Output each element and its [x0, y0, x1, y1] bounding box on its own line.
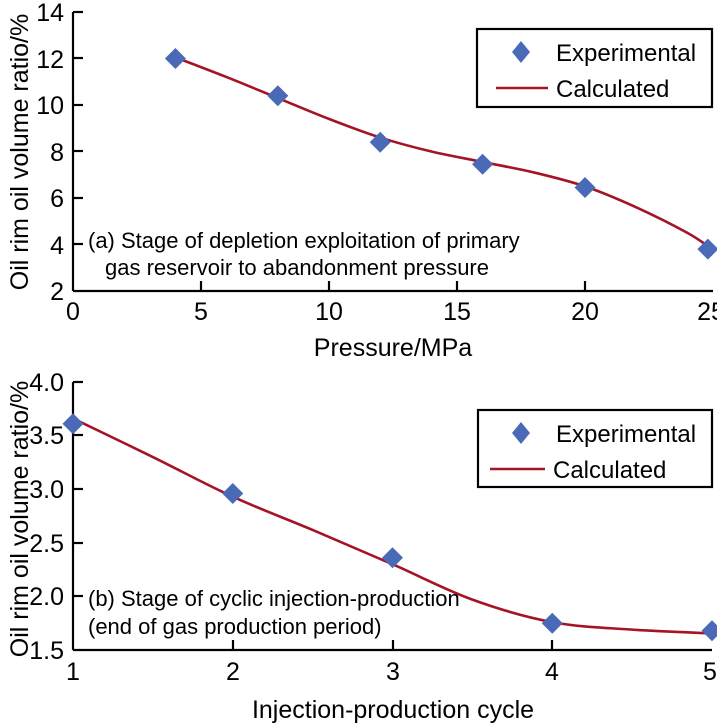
panel-a-y-tick-label: 2	[50, 278, 64, 306]
panel-a-y-tick-label: 14	[36, 0, 64, 27]
panel-a-legend[interactable]: Experimental Calculated	[477, 29, 712, 107]
panel-a-x-tick-label: 0	[66, 298, 80, 326]
data-point-marker	[542, 613, 563, 634]
data-point-marker	[382, 547, 403, 568]
panel-a-plot: Oil rim oil volume ratio/% 14 12 10 8 6 …	[0, 0, 717, 364]
panel-a-y-tick-label: 6	[50, 185, 64, 213]
panel-a-y-axis-title: Oil rim oil volume ratio/%	[6, 14, 34, 290]
panel-b-legend-experimental-label: Experimental	[556, 421, 696, 448]
panel-b-y-tick-label: 4.0	[29, 369, 64, 397]
panel-b-x-tick-label: 4	[545, 658, 559, 686]
data-point-marker	[63, 413, 84, 434]
panel-b-y-tick-label: 2.5	[29, 530, 64, 558]
panel-a-y-tick-label: 4	[50, 232, 64, 260]
panel-b-plot: Oil rim oil volume ratio/% 4.0 3.5 3.0 2…	[0, 364, 717, 728]
panel-a-x-axis-title: Pressure/MPa	[314, 334, 472, 362]
panel-b-y-tick-label: 3.5	[29, 422, 64, 450]
panel-b-legend-calculated-label: Calculated	[553, 457, 666, 484]
panel-b-x-tick-label: 1	[66, 658, 80, 686]
data-point-marker	[472, 154, 493, 175]
panel-b-caption-line1: (b) Stage of cyclic injection-production	[88, 586, 460, 611]
panel-a-caption-line2: gas reservoir to abandonment pressure	[105, 255, 489, 280]
data-point-marker	[267, 85, 288, 106]
panel-b-x-tick-label: 5	[703, 658, 717, 686]
panel-a-x-tick-label: 15	[443, 298, 471, 326]
panel-a-y-tick-label: 12	[36, 46, 64, 74]
data-point-marker	[575, 177, 596, 198]
panel-b-y-tick-label: 3.0	[29, 476, 64, 504]
panel-b-x-tick-label: 2	[226, 658, 240, 686]
panel-b-y-tick-label: 2.0	[29, 583, 64, 611]
panel-a-x-tick-label: 10	[315, 298, 343, 326]
panel-a-legend-calculated-label: Calculated	[556, 76, 669, 103]
data-point-marker	[702, 620, 717, 641]
chart-panel-a: Oil rim oil volume ratio/% 14 12 10 8 6 …	[0, 0, 717, 364]
panel-b-caption-line2: (end of gas production period)	[88, 614, 382, 639]
panel-b-x-axis-title: Injection-production cycle	[252, 696, 534, 724]
panel-a-y-tick-label: 8	[50, 139, 64, 167]
panel-a-caption-line1: (a) Stage of depletion exploitation of p…	[88, 228, 520, 253]
panel-b-y-tick-label: 1.5	[29, 637, 64, 665]
chart-panel-b: Oil rim oil volume ratio/% 4.0 3.5 3.0 2…	[0, 364, 717, 728]
panel-a-y-tick-label: 10	[36, 92, 64, 120]
panel-b-x-tick-label: 3	[386, 658, 400, 686]
data-point-marker	[165, 48, 186, 69]
panel-a-x-tick-label: 20	[571, 298, 599, 326]
figure-container: Oil rim oil volume ratio/% 14 12 10 8 6 …	[0, 0, 717, 728]
panel-b-legend[interactable]: Experimental Calculated	[478, 410, 712, 487]
panel-a-x-tick-label: 5	[194, 298, 208, 326]
panel-a-x-tick-label: 25	[697, 298, 717, 326]
panel-a-legend-experimental-label: Experimental	[556, 40, 696, 67]
